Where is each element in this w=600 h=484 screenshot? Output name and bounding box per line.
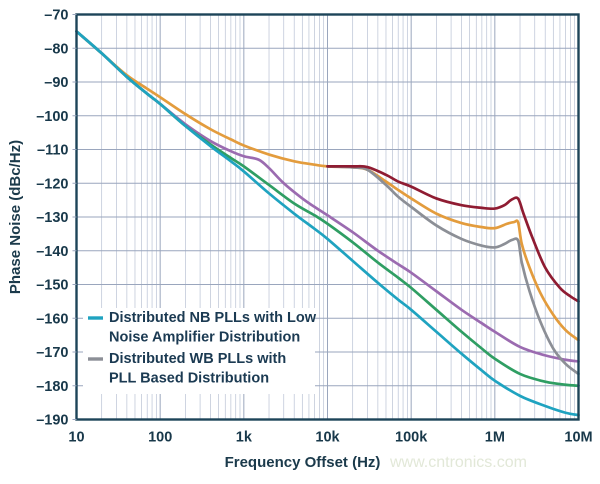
y-tick-label: –180 — [36, 379, 68, 395]
legend-label: Distributed NB PLLs with Low — [109, 310, 317, 326]
y-tick-label: –160 — [36, 311, 68, 327]
x-tick-label: 10 — [68, 430, 84, 446]
y-tick-label: –190 — [36, 413, 68, 429]
y-tick-label: –130 — [36, 210, 68, 226]
y-tick-label: –110 — [37, 143, 68, 159]
x-axis-title: Frequency Offset (Hz) — [225, 454, 381, 471]
y-axis-ticks: –70–80–90–100–110–120–130–140–150–160–17… — [36, 8, 76, 429]
x-tick-label: 10M — [564, 430, 592, 446]
y-tick-label: –170 — [36, 345, 68, 361]
y-tick-label: –90 — [44, 75, 68, 91]
y-tick-label: –100 — [36, 109, 68, 125]
legend-label: PLL Based Distribution — [109, 371, 269, 387]
y-axis-title: Phase Noise (dBc/Hz) — [7, 140, 24, 294]
y-tick-label: –80 — [44, 41, 68, 57]
x-tick-label: 10k — [315, 430, 340, 446]
legend-label: Distributed WB PLLs with — [109, 351, 286, 367]
x-tick-label: 100k — [395, 430, 428, 446]
x-tick-label: 1k — [236, 430, 253, 446]
phase-noise-chart: –70–80–90–100–110–120–130–140–150–160–17… — [0, 0, 600, 479]
x-tick-label: 1M — [485, 430, 505, 446]
x-axis-ticks: 101001k10k100k1M10M — [68, 430, 592, 446]
y-tick-label: –140 — [36, 244, 68, 260]
chart-canvas: –70–80–90–100–110–120–130–140–150–160–17… — [0, 0, 600, 479]
y-tick-label: –150 — [36, 278, 68, 294]
x-tick-label: 100 — [148, 430, 172, 446]
y-tick-label: –70 — [44, 8, 68, 24]
legend-label: Noise Amplifier Distribution — [109, 330, 300, 346]
y-tick-label: –120 — [36, 176, 68, 192]
watermark: www.cntronics.com — [389, 454, 527, 471]
legend: Distributed NB PLLs with LowNoise Amplif… — [83, 308, 317, 394]
